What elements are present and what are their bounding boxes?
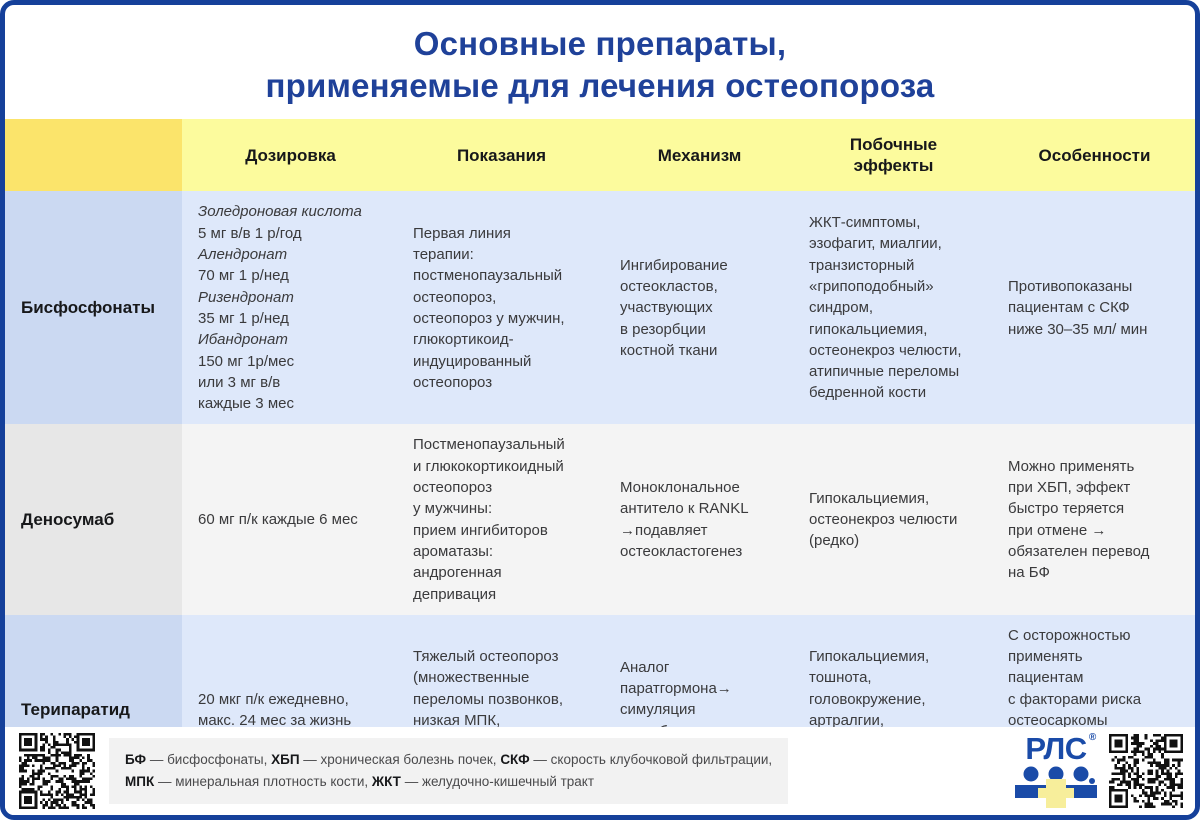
table-body: Бисфосфонаты Золедроновая кислота5 мг в/… [5, 191, 1195, 805]
qr-code-left-icon[interactable] [19, 733, 95, 809]
cell-indications-bisphosphonates: Первая линия терапии: постменопаузальный… [397, 191, 604, 424]
header-cell-dosage: Дозировка [182, 119, 397, 191]
rls-logo-word: РЛС [1025, 731, 1086, 766]
table-row: Бисфосфонаты Золедроновая кислота5 мг в/… [5, 191, 1195, 424]
title-line-1: Основные препараты, [45, 23, 1155, 65]
header-cell-indications: Показания [397, 119, 604, 191]
table-row: Деносумаб 60 мг п/к каждые 6 мес Постмен… [5, 424, 1195, 614]
rls-logo-mark-icon [1013, 766, 1099, 808]
header-cell-mechanism: Механизм [604, 119, 793, 191]
registered-mark: ® [1089, 733, 1096, 743]
rls-logo-text: РЛС® [1025, 734, 1086, 763]
cell-dosage-bisphosphonates: Золедроновая кислота5 мг в/в 1 р/годАлен… [182, 191, 397, 424]
infographic-page: Основные препараты, применяемые для лече… [0, 0, 1200, 820]
cell-features-denosumab: Можно применять при ХБП, эффект быстро т… [992, 424, 1195, 614]
cell-features-bisphosphonates: Противопоказаны пациентам с СКФ ниже 30–… [992, 191, 1195, 424]
cell-mechanism-denosumab: Моноклональное антитело к RANKL →подавля… [604, 424, 793, 614]
cell-side-effects-bisphosphonates: ЖКТ-симптомы, эзофагит, миалгии, транзис… [793, 191, 992, 424]
legend-line-2: МПК — минеральная плотность кости, ЖКТ —… [125, 771, 772, 793]
row-label-denosumab: Деносумаб [5, 424, 182, 614]
cell-dosage-denosumab: 60 мг п/к каждые 6 мес [182, 424, 397, 614]
footer: БФ — бисфосфонаты, ХБП — хроническая бол… [5, 727, 1195, 815]
cell-mechanism-bisphosphonates: Ингибирование остеокластов, участвующих … [604, 191, 793, 424]
legend-line-1: БФ — бисфосфонаты, ХБП — хроническая бол… [125, 749, 772, 771]
header-cell-features: Особенности [992, 119, 1195, 191]
page-title: Основные препараты, применяемые для лече… [5, 5, 1195, 119]
header-cell-side-effects: Побочные эффекты [793, 119, 992, 191]
title-line-2: применяемые для лечения остеопороза [45, 65, 1155, 107]
qr-code-right-icon[interactable] [1109, 734, 1183, 808]
cell-indications-denosumab: Постменопаузальный и глюкокортикоидный о… [397, 424, 604, 614]
row-label-bisphosphonates: Бисфосфонаты [5, 191, 182, 424]
drug-comparison-table: Дозировка Показания Механизм Побочные эф… [5, 119, 1195, 805]
abbreviation-legend: БФ — бисфосфонаты, ХБП — хроническая бол… [109, 738, 788, 804]
table-header-row: Дозировка Показания Механизм Побочные эф… [5, 119, 1195, 191]
rls-logo[interactable]: РЛС® [1013, 734, 1099, 807]
header-cell-blank [5, 119, 182, 191]
table-head: Дозировка Показания Механизм Побочные эф… [5, 119, 1195, 191]
cell-side-effects-denosumab: Гипокальциемия, остеонекроз челюсти (ред… [793, 424, 992, 614]
